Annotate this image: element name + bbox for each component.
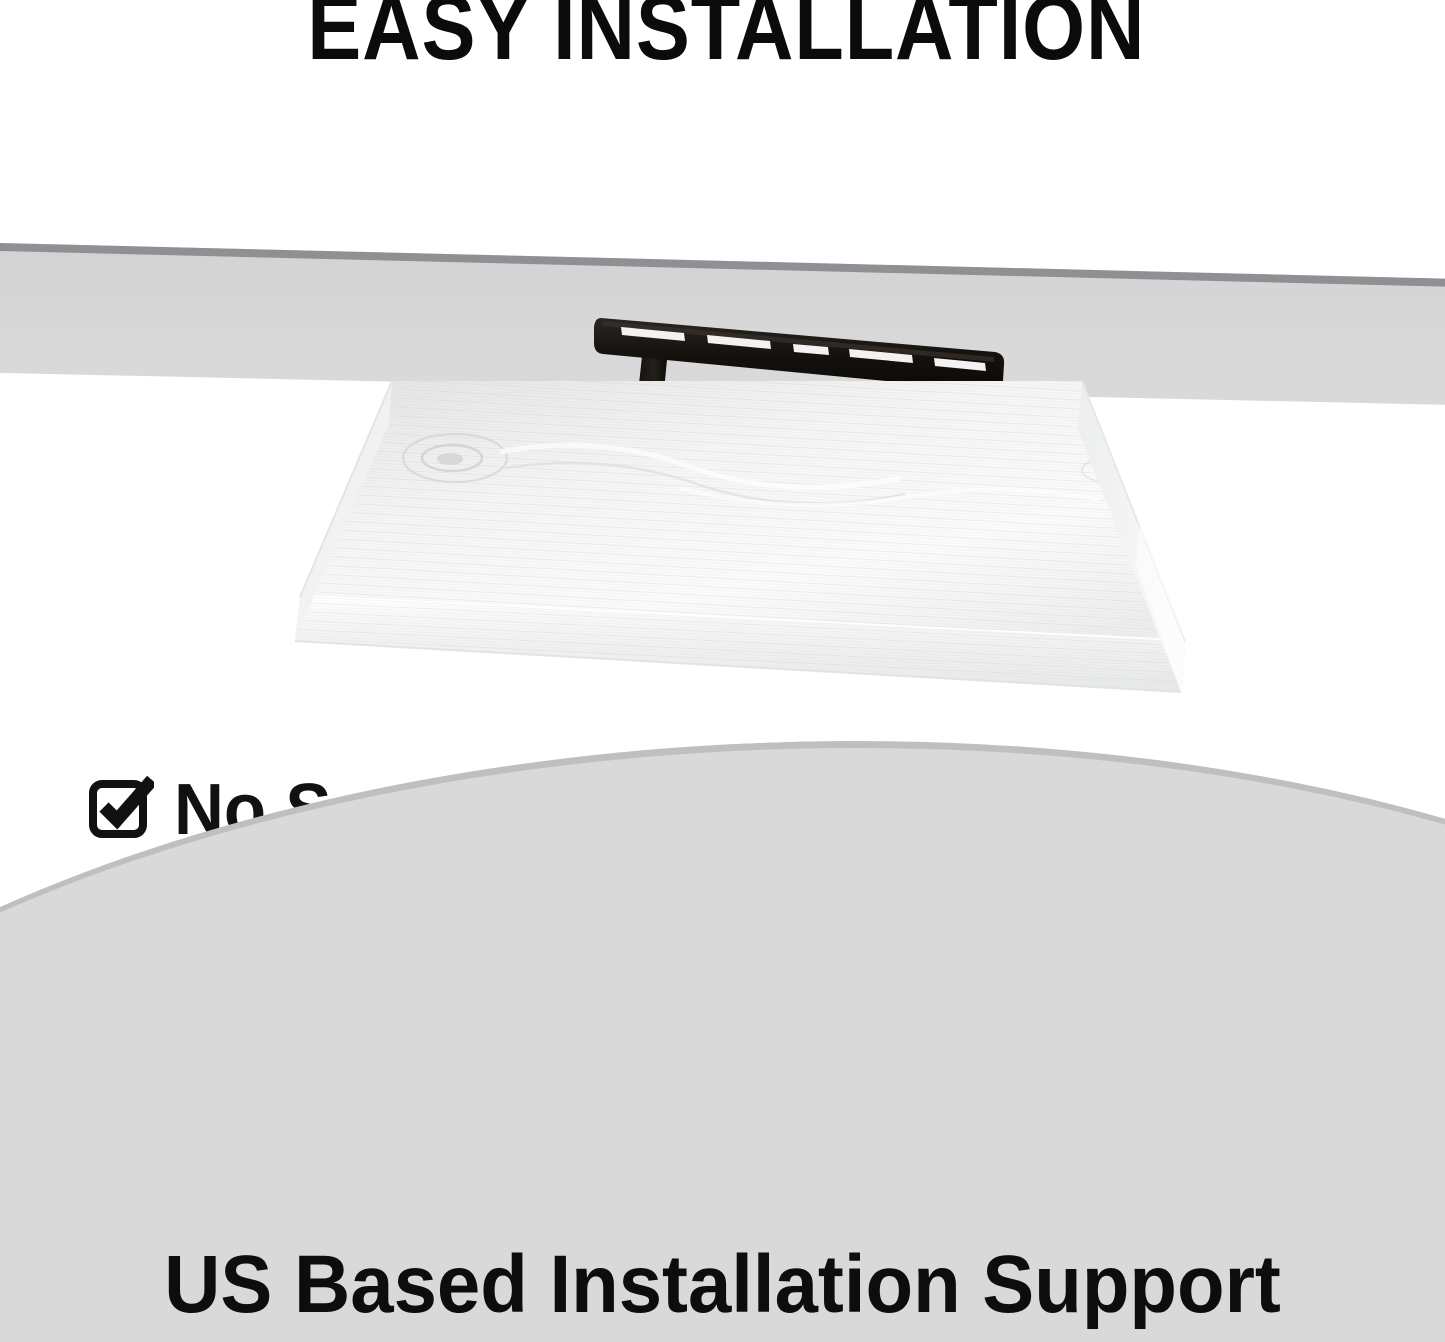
product-infographic: EASY INSTALLATION [0, 0, 1445, 1342]
footer-caption: US Based Installation Support [36, 1240, 1409, 1330]
